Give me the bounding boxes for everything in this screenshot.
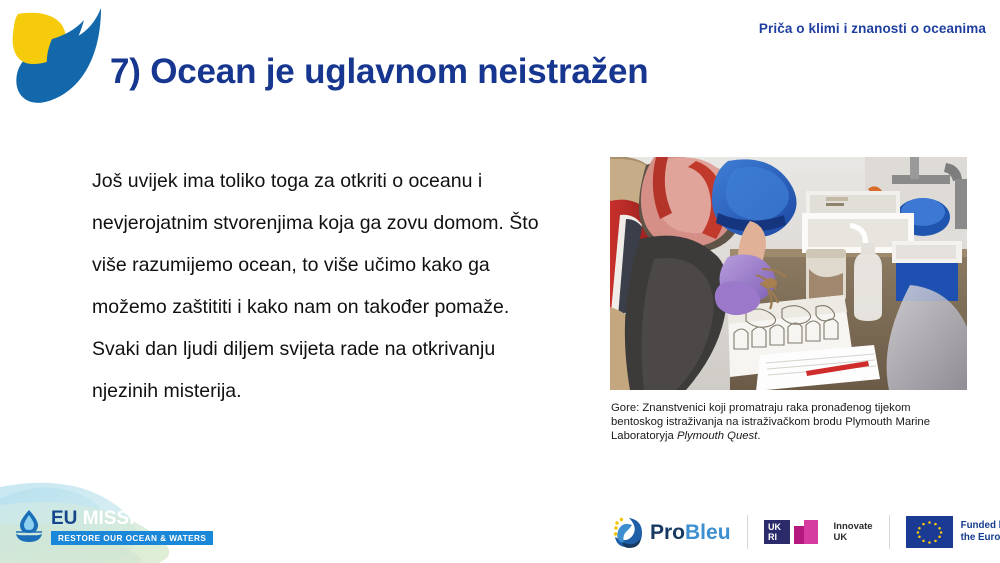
svg-text:UK: UK <box>768 522 781 532</box>
ukri-innovate-uk-logo: UK RI Innovate UK <box>748 516 889 548</box>
water-drop-icon <box>14 510 44 542</box>
svg-text:RI: RI <box>768 532 777 542</box>
caption-main: Gore: Znanstvenici koji promatraju raka … <box>611 402 930 442</box>
ukri-mark-icon: UK RI <box>764 516 826 548</box>
probleu-wordmark: ProBleu <box>650 522 731 543</box>
series-label: Priča o klimi i znanosti o oceanima <box>759 21 986 36</box>
eu-flag-icon <box>906 516 953 548</box>
probleu-bleu: Bleu <box>685 521 731 544</box>
eu-funding-line1: Funded by <box>961 520 1000 532</box>
innovate-uk-line1: Innovate <box>834 521 873 533</box>
eu-missions-title: EU MISSIONS <box>51 509 213 528</box>
innovate-uk-line2: UK <box>834 532 873 544</box>
eu-funding-logo: Funded by the European Union <box>890 516 1000 548</box>
probleu-logo: ProBleu <box>612 516 747 548</box>
eu-funding-label: Funded by the European Union <box>961 520 1000 544</box>
eu-missions-missions: MISSIONS <box>83 508 176 529</box>
caption-period: . <box>757 430 760 442</box>
body-paragraph-1: Još uvijek ima toliko toga za otkriti o … <box>92 160 562 328</box>
caption-vessel-name: Plymouth Quest <box>677 430 757 442</box>
photo-scientists-examining-crab <box>610 157 967 390</box>
slide-root: Priča o klimi i znanosti o oceanima 7) O… <box>0 0 1000 563</box>
innovate-uk-label: Innovate UK <box>834 521 873 544</box>
probleu-pro: Pro <box>650 521 685 544</box>
eu-missions-eu: EU <box>51 508 77 529</box>
footer-logo-strip: ProBleu UK RI Innovate UK <box>612 515 1000 549</box>
page-title: 7) Ocean je uglavnom neistražen <box>110 52 648 92</box>
photo-caption: Gore: Znanstvenici koji promatraju raka … <box>611 401 963 444</box>
body-text-block: Još uvijek ima toliko toga za otkriti o … <box>92 160 562 412</box>
eu-missions-logo: EU MISSIONS RESTORE OUR OCEAN & WATERS <box>14 509 213 545</box>
eu-funding-line2: the European Union <box>961 532 1000 544</box>
eu-mission-leaf-logo-icon <box>5 2 113 110</box>
eu-missions-tagline: RESTORE OUR OCEAN & WATERS <box>51 531 213 545</box>
eu-missions-text: EU MISSIONS RESTORE OUR OCEAN & WATERS <box>51 509 213 545</box>
probleu-mark-icon <box>612 516 644 548</box>
body-paragraph-2: Svaki dan ljudi diljem svijeta rade na o… <box>92 328 562 412</box>
